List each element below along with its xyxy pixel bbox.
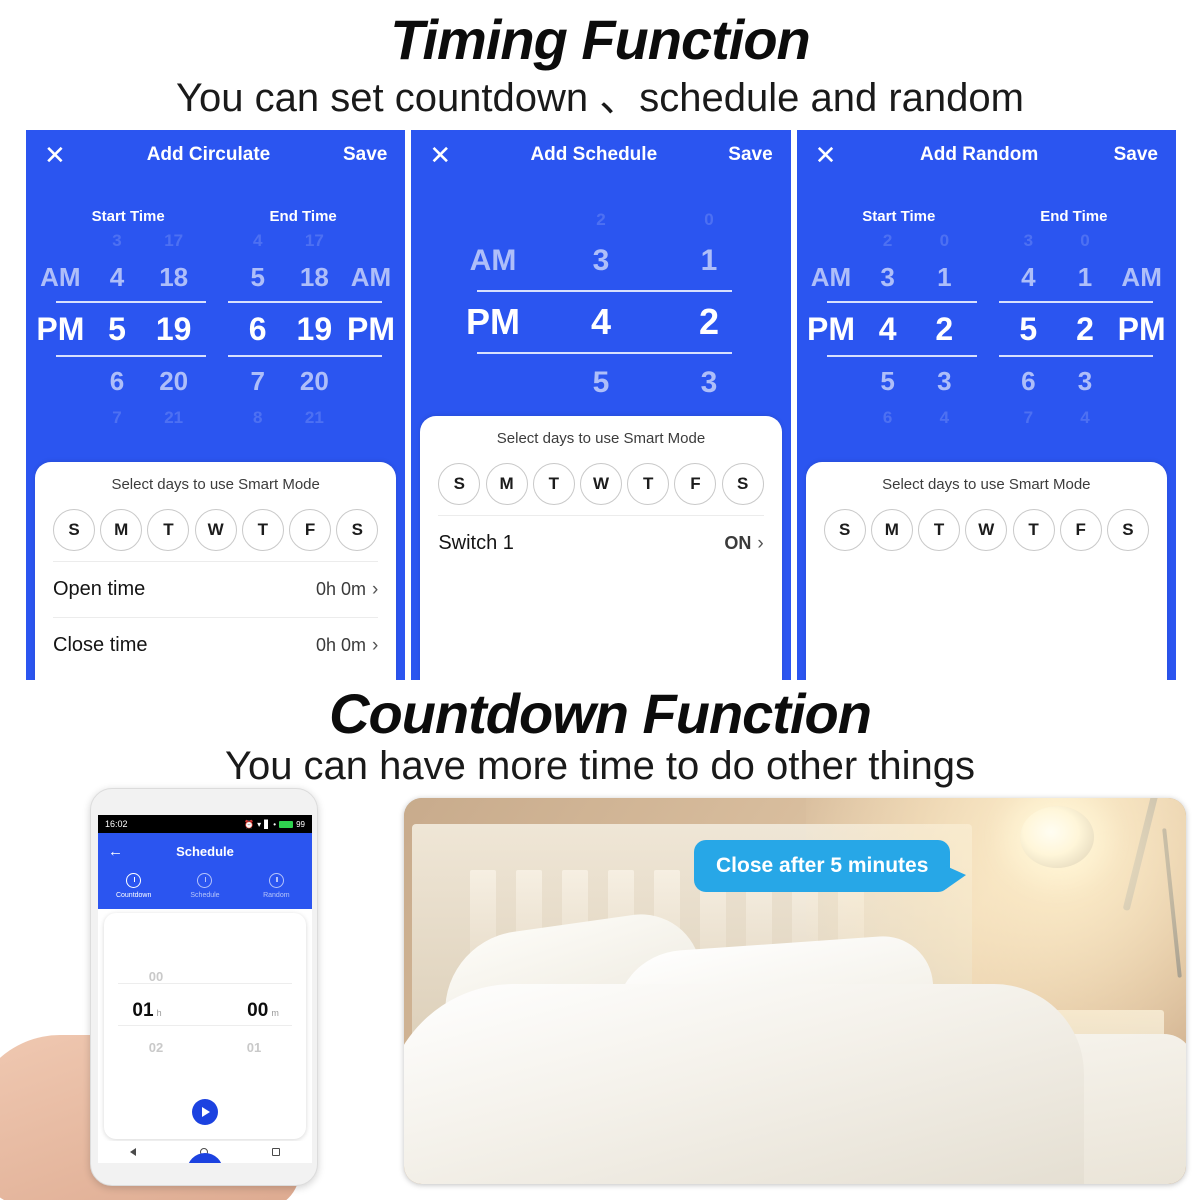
picker-cell-selected: 5 — [89, 311, 146, 348]
day-selector: S M T W T F S — [53, 509, 378, 551]
picker-row-faint-bottom: 7 21 8 21 — [32, 405, 399, 431]
day-toggle-sat[interactable]: S — [722, 463, 764, 505]
tab-countdown[interactable]: Countdown — [98, 873, 169, 899]
panel-add-schedule: ✕ Add Schedule Save 2 0 AM 3 1 — [411, 130, 790, 680]
minute-unit: m — [271, 1008, 279, 1018]
play-icon[interactable] — [192, 1099, 218, 1125]
speech-bubble: Close after 5 minutes — [694, 840, 950, 892]
minute-below: 01 — [233, 1040, 275, 1055]
switch-1-value: ON — [724, 533, 751, 554]
picker-cell: 5 — [859, 366, 916, 397]
dot-icon: • — [273, 820, 276, 829]
minute-above — [233, 969, 275, 984]
picker-cell: 20 — [145, 366, 202, 397]
smart-mode-sheet: Select days to use Smart Mode S M T W T … — [35, 462, 396, 680]
day-toggle-wed[interactable]: W — [965, 509, 1007, 551]
picker-cell-selected: 19 — [145, 311, 202, 348]
countdown-row-below: 02 01 — [104, 1040, 306, 1055]
day-toggle-sat[interactable]: S — [336, 509, 378, 551]
timing-function-subtitle: You can set countdown 、schedule and rand… — [0, 74, 1200, 122]
hour-below: 02 — [135, 1040, 177, 1055]
start-time-header: Start Time — [811, 208, 986, 225]
picker-cell: 5 — [229, 262, 286, 293]
countdown-row-above: 00 — [104, 969, 306, 984]
sheet-title: Select days to use Smart Mode — [53, 476, 378, 493]
app-bar: ← Schedule — [98, 833, 312, 869]
chevron-right-icon: › — [757, 533, 763, 555]
switch-1-label: Switch 1 — [438, 532, 514, 555]
time-picker[interactable]: 3 17 4 17 AM 4 18 5 18 AM — [26, 229, 405, 431]
mode-tabs: Countdown Schedule Random — [98, 869, 312, 909]
picker-cell: 3 — [89, 231, 146, 251]
day-toggle-sun[interactable]: S — [824, 509, 866, 551]
picker-cell: 7 — [229, 366, 286, 397]
recents-nav-icon[interactable] — [272, 1148, 280, 1156]
close-time-row[interactable]: Close time 0h 0m › — [53, 617, 378, 673]
open-time-label: Open time — [53, 578, 145, 601]
picker-cell: 6 — [89, 366, 146, 397]
picker-cell: 17 — [145, 231, 202, 251]
picker-column-headers: Start Time End Time — [797, 208, 1176, 225]
day-selector: S M T W T F S — [438, 463, 763, 505]
phone-screen: 16:02 ⏰ ▾ ▋ • 99 ← Schedule — [98, 815, 312, 1163]
picker-cell: 4 — [1000, 262, 1057, 293]
picker-row-above[interactable]: AM 4 18 5 18 AM — [32, 253, 399, 301]
picker-row-faint-top: 2 0 — [417, 208, 784, 232]
picker-cell: AM — [439, 244, 547, 278]
selection-line — [999, 301, 1153, 303]
sheet-title: Select days to use Smart Mode — [824, 476, 1149, 493]
panel-add-circulate: ✕ Add Circulate Save Start Time End Time… — [26, 130, 405, 680]
picker-cell-selected: PM — [439, 301, 547, 343]
tab-schedule[interactable]: Schedule — [169, 873, 240, 899]
picker-cell-selected: 19 — [286, 311, 343, 348]
picker-cell: 0 — [655, 210, 763, 230]
time-picker[interactable]: 2 0 AM 3 1 PM 4 2 — [411, 208, 790, 438]
close-icon[interactable]: ✕ — [44, 142, 74, 168]
app-bar-title: Schedule — [132, 844, 278, 859]
picker-divider — [118, 1025, 292, 1026]
smart-mode-sheet: Select days to use Smart Mode S M T W T … — [420, 416, 781, 680]
close-time-label: Close time — [53, 634, 147, 657]
picker-cell: 7 — [1000, 408, 1057, 428]
picker-cell-selected: 5 — [1000, 311, 1057, 348]
day-toggle-tue[interactable]: T — [533, 463, 575, 505]
picker-cell-selected: PM — [1113, 311, 1170, 348]
panel-add-random: ✕ Add Random Save Start Time End Time 2 … — [797, 130, 1176, 680]
picker-cell: 3 — [916, 366, 973, 397]
picker-cell: 21 — [286, 408, 343, 428]
day-toggle-fri[interactable]: F — [1060, 509, 1102, 551]
picker-column-headers: Start Time End Time — [26, 208, 405, 225]
picker-row-above[interactable]: AM 3 1 4 1 AM — [803, 253, 1170, 301]
close-time-value: 0h 0m — [316, 635, 366, 656]
picker-cell: 18 — [145, 262, 202, 293]
picker-cell: AM — [343, 262, 400, 293]
back-nav-icon[interactable] — [130, 1148, 136, 1156]
phone-mockup: 16:02 ⏰ ▾ ▋ • 99 ← Schedule — [0, 780, 380, 1200]
picker-cell: 4 — [1057, 408, 1114, 428]
start-time-header: Start Time — [41, 208, 216, 225]
switch-1-row[interactable]: Switch 1 ON › — [438, 515, 763, 571]
save-button[interactable]: Save — [343, 144, 387, 166]
picker-cell: 1 — [1057, 262, 1114, 293]
alarm-icon: ⏰ — [244, 820, 254, 829]
picker-cell: 5 — [547, 366, 655, 400]
hour-selected: 01 — [132, 1000, 153, 1022]
smart-mode-sheet: Select days to use Smart Mode S M T W T … — [806, 462, 1167, 680]
selection-line — [56, 301, 206, 303]
panel-top-bar: ✕ Add Circulate Save — [26, 130, 405, 180]
day-toggle-sat[interactable]: S — [1107, 509, 1149, 551]
duvet-front — [404, 984, 1084, 1184]
chevron-right-icon: › — [372, 635, 378, 657]
battery-percent: 99 — [296, 820, 305, 829]
picker-row-faint-bottom: 6 4 7 4 — [803, 405, 1170, 431]
panel-top-bar: ✕ Add Random Save — [797, 130, 1176, 180]
timing-function-title: Timing Function — [0, 8, 1200, 72]
picker-cell: 1 — [655, 244, 763, 278]
countdown-card: 00 01 h 00 m — [104, 913, 306, 1139]
picker-cell: 1 — [916, 262, 973, 293]
day-toggle-fri[interactable]: F — [674, 463, 716, 505]
close-time-value-group: 0h 0m › — [316, 635, 378, 657]
picker-cell: 3 — [1057, 366, 1114, 397]
hour-unit: h — [157, 1008, 162, 1018]
day-toggle-tue[interactable]: T — [918, 509, 960, 551]
shuffle-clock-icon — [269, 873, 284, 888]
minute-group: 00 m — [233, 1000, 293, 1022]
picker-cell-selected: PM — [32, 311, 89, 348]
day-toggle-sun[interactable]: S — [53, 509, 95, 551]
day-toggle-mon[interactable]: M — [486, 463, 528, 505]
panel-title: Add Random — [845, 144, 1114, 166]
minute-selected: 00 — [247, 1000, 268, 1022]
close-icon[interactable]: ✕ — [429, 142, 459, 168]
day-toggle-mon[interactable]: M — [871, 509, 913, 551]
hour-above: 00 — [135, 969, 177, 984]
panel-title: Add Circulate — [74, 144, 343, 166]
day-toggle-fri[interactable]: F — [289, 509, 331, 551]
calendar-clock-icon — [197, 873, 212, 888]
picker-row-selected[interactable]: PM 5 19 6 19 PM — [32, 301, 399, 357]
picker-cell: 20 — [286, 366, 343, 397]
picker-cell: 3 — [859, 262, 916, 293]
day-toggle-thu[interactable]: T — [627, 463, 669, 505]
picker-row-above[interactable]: AM 3 1 — [417, 232, 784, 290]
time-picker[interactable]: 2 0 3 0 AM 3 1 4 1 AM — [797, 229, 1176, 431]
countdown-row-selected[interactable]: 01 h 00 m — [104, 1000, 306, 1022]
picker-cell: AM — [32, 262, 89, 293]
picker-row-faint-top: 3 17 4 17 — [32, 229, 399, 253]
open-time-value-group: 0h 0m › — [316, 579, 378, 601]
picker-cell: 17 — [286, 231, 343, 251]
sheet-title: Select days to use Smart Mode — [438, 430, 763, 447]
picker-cell-selected: 4 — [547, 301, 655, 343]
wifi-icon: ▾ — [257, 820, 261, 829]
countdown-picker[interactable]: 00 01 h 00 m — [104, 937, 306, 1087]
app-screens-row: ✕ Add Circulate Save Start Time End Time… — [26, 130, 1176, 680]
open-time-row[interactable]: Open time 0h 0m › — [53, 561, 378, 617]
picker-cell: 0 — [1057, 231, 1114, 251]
picker-row-selected[interactable]: PM 4 2 5 2 PM — [803, 301, 1170, 357]
battery-icon — [279, 821, 293, 828]
day-toggle-wed[interactable]: W — [580, 463, 622, 505]
selection-line — [827, 301, 977, 303]
play-triangle — [202, 1107, 210, 1117]
picker-cell: AM — [1113, 262, 1170, 293]
end-time-header: End Time — [216, 208, 391, 225]
day-selector: S M T W T F S — [824, 509, 1149, 551]
tab-countdown-label: Countdown — [98, 892, 169, 899]
picker-cell-selected: 4 — [859, 311, 916, 348]
picker-cell: 3 — [1000, 231, 1057, 251]
day-toggle-thu[interactable]: T — [242, 509, 284, 551]
selection-line — [228, 301, 382, 303]
picker-cell-selected: PM — [343, 311, 400, 348]
status-time: 16:02 — [105, 819, 128, 829]
open-time-value: 0h 0m — [316, 579, 366, 600]
day-toggle-thu[interactable]: T — [1013, 509, 1055, 551]
tab-random[interactable]: Random — [241, 873, 312, 899]
phone-body: 16:02 ⏰ ▾ ▋ • 99 ← Schedule — [90, 788, 318, 1186]
picker-row-below[interactable]: 5 3 — [417, 354, 784, 412]
picker-row-below[interactable]: 5 3 6 3 — [803, 357, 1170, 405]
countdown-function-title: Countdown Function — [0, 682, 1200, 746]
picker-row-below[interactable]: 6 20 7 20 — [32, 357, 399, 405]
hour-group: 01 h — [117, 1000, 177, 1022]
day-toggle-sun[interactable]: S — [438, 463, 480, 505]
chevron-right-icon: › — [372, 579, 378, 601]
picker-cell: 2 — [859, 231, 916, 251]
panel-top-bar: ✕ Add Schedule Save — [411, 130, 790, 180]
picker-cell: 4 — [89, 262, 146, 293]
save-button[interactable]: Save — [728, 144, 772, 166]
back-arrow-icon[interactable]: ← — [108, 843, 132, 860]
picker-cell: 3 — [547, 244, 655, 278]
switch-1-value-group: ON › — [724, 533, 763, 555]
picker-divider — [118, 983, 292, 984]
bedroom-photo: Close after 5 minutes — [404, 798, 1186, 1184]
day-toggle-wed[interactable]: W — [195, 509, 237, 551]
picker-cell: 21 — [145, 408, 202, 428]
end-time-header: End Time — [986, 208, 1161, 225]
lamp-head — [1020, 806, 1094, 868]
picker-cell-selected: 6 — [229, 311, 286, 348]
picker-cell: AM — [803, 262, 860, 293]
signal-icon: ▋ — [264, 820, 270, 829]
picker-cell: 6 — [1000, 366, 1057, 397]
picker-cell-selected: 2 — [1057, 311, 1114, 348]
day-toggle-tue[interactable]: T — [147, 509, 189, 551]
picker-cell: 3 — [655, 366, 763, 400]
panel-title: Add Schedule — [459, 144, 728, 166]
poster-root: Timing Function You can set countdown 、s… — [0, 0, 1200, 1200]
status-bar: 16:02 ⏰ ▾ ▋ • 99 — [98, 815, 312, 833]
tab-schedule-label: Schedule — [169, 892, 240, 899]
clock-icon — [126, 873, 141, 888]
picker-cell: 18 — [286, 262, 343, 293]
picker-row-selected[interactable]: PM 4 2 — [417, 290, 784, 354]
picker-cell-selected: PM — [803, 311, 860, 348]
close-icon[interactable]: ✕ — [815, 142, 845, 168]
picker-cell: 4 — [229, 231, 286, 251]
picker-cell: 2 — [547, 210, 655, 230]
save-button[interactable]: Save — [1114, 144, 1158, 166]
day-toggle-mon[interactable]: M — [100, 509, 142, 551]
picker-cell: 8 — [229, 408, 286, 428]
tab-random-label: Random — [241, 892, 312, 899]
picker-row-faint-top: 2 0 3 0 — [803, 229, 1170, 253]
picker-cell: 7 — [89, 408, 146, 428]
picker-cell-selected: 2 — [916, 311, 973, 348]
picker-cell: 6 — [859, 408, 916, 428]
picker-cell: 0 — [916, 231, 973, 251]
selection-line — [477, 290, 732, 292]
status-icons: ⏰ ▾ ▋ • 99 — [244, 820, 305, 829]
picker-cell: 4 — [916, 408, 973, 428]
picker-cell-selected: 2 — [655, 301, 763, 343]
